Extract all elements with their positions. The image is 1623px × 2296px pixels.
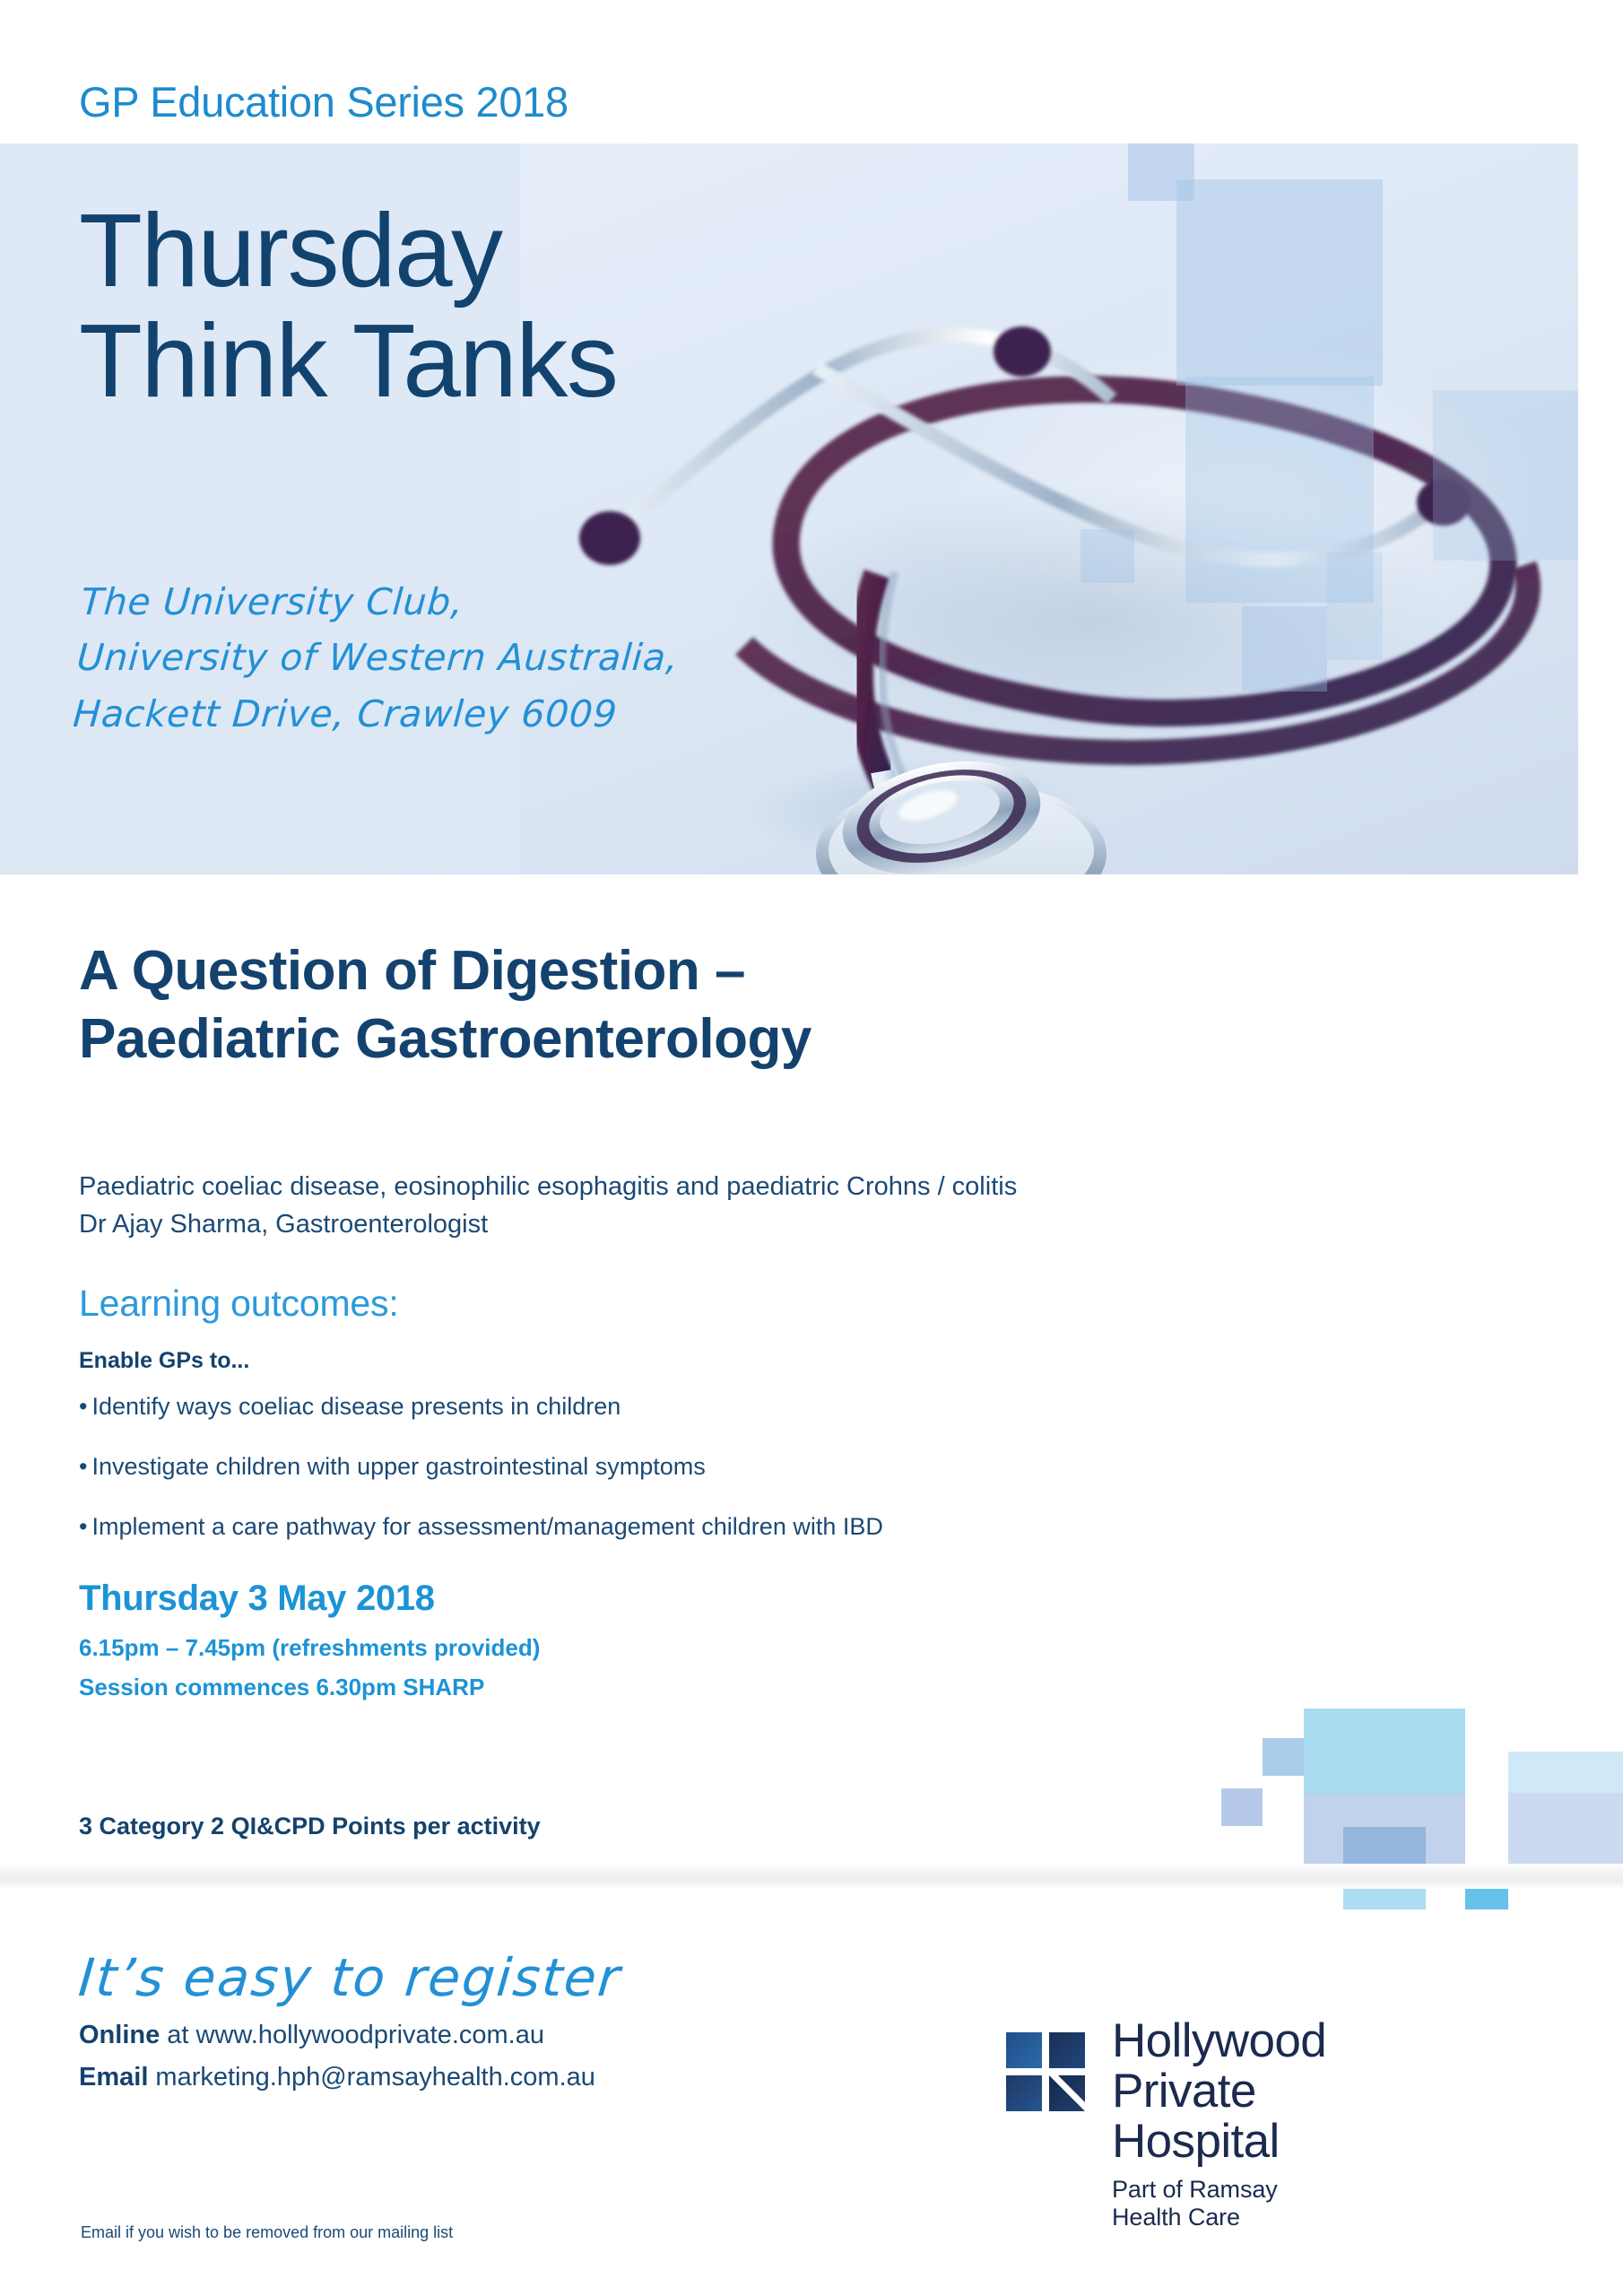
event-time: 6.15pm – 7.45pm (refreshments provided) xyxy=(79,1634,540,1662)
register-email-value[interactable]: marketing.hph@ramsayhealth.com.au xyxy=(148,2063,595,2092)
list-item-label: Identify ways coeliac disease presents i… xyxy=(91,1393,621,1420)
page-title-line1: A Question of Digestion – xyxy=(79,937,811,1005)
session-topics: Paediatric coeliac disease, eosinophilic… xyxy=(79,1168,1017,1205)
session-speaker: Dr Ajay Sharma, Gastroenterologist xyxy=(79,1205,1017,1243)
logo-wordmark: Hollywood Private Hospital Part of Ramsa… xyxy=(1112,2016,1326,2231)
list-item: •Identify ways coeliac disease presents … xyxy=(79,1395,883,1419)
register-online-value[interactable]: at www.hollywoodprivate.com.au xyxy=(160,2021,544,2049)
bullet-icon: • xyxy=(79,1453,87,1480)
list-item-label: Implement a care pathway for assessment/… xyxy=(91,1513,882,1540)
event-commence-note: Session commences 6.30pm SHARP xyxy=(79,1674,540,1701)
bullet-icon: • xyxy=(79,1393,87,1420)
event-datetime-block: Thursday 3 May 2018 6.15pm – 7.45pm (ref… xyxy=(79,1578,540,1713)
stethoscope-illustration xyxy=(520,143,1578,874)
event-date: Thursday 3 May 2018 xyxy=(79,1578,540,1619)
stethoscope-svg xyxy=(520,143,1578,874)
hero-banner: Thursday Think Tanks The University Club… xyxy=(0,143,1578,874)
page-title-line2: Paediatric Gastroenterology xyxy=(79,1005,811,1074)
mailing-list-footnote: Email if you wish to be removed from our… xyxy=(81,2223,453,2242)
hero-heading-line1: Thursday xyxy=(79,196,617,306)
register-email-label: Email xyxy=(79,2063,148,2092)
session-subject: Paediatric coeliac disease, eosinophilic… xyxy=(79,1168,1017,1243)
register-online-label: Online xyxy=(79,2021,160,2049)
page-header: GP Education Series 2018 xyxy=(0,0,1623,143)
register-heading: It’s easy to register xyxy=(76,1947,624,2008)
logo-squares-icon xyxy=(1006,2032,1085,2111)
logo-line-1: Hollywood xyxy=(1112,2016,1326,2066)
list-item: •Investigate children with upper gastroi… xyxy=(79,1455,883,1479)
stethoscope-photo xyxy=(520,143,1578,874)
venue-line-2: University of Western Australia, xyxy=(75,630,681,685)
logo-line-2: Private Hospital xyxy=(1112,2066,1326,2167)
logo-mark-svg xyxy=(1006,2032,1085,2111)
learning-outcomes-list: •Identify ways coeliac disease presents … xyxy=(79,1395,883,1575)
venue-line-1: The University Club, xyxy=(79,574,684,630)
register-email-line: Email marketing.hph@ramsayhealth.com.au xyxy=(79,2063,621,2092)
page-title: A Question of Digestion – Paediatric Gas… xyxy=(79,937,811,1073)
venue-line-3: Hackett Drive, Crawley 6009 xyxy=(71,686,676,742)
registration-block: It’s easy to register Online at www.holl… xyxy=(79,1947,621,2092)
list-item: •Implement a care pathway for assessment… xyxy=(79,1515,883,1539)
logo-tagline: Part of Ramsay Health Care xyxy=(1112,2176,1326,2231)
learning-outcomes-lead: Enable GPs to... xyxy=(79,1348,249,1374)
bullet-icon: • xyxy=(79,1513,87,1540)
hero-heading-line2: Think Tanks xyxy=(79,306,617,416)
cpd-points: 3 Category 2 QI&CPD Points per activity xyxy=(79,1813,541,1840)
learning-outcomes-title: Learning outcomes: xyxy=(79,1283,399,1325)
register-online-line: Online at www.hollywoodprivate.com.au xyxy=(79,2021,621,2050)
list-item-label: Investigate children with upper gastroin… xyxy=(91,1453,705,1480)
hero-heading: Thursday Think Tanks xyxy=(79,196,617,416)
section-divider xyxy=(0,1864,1623,1889)
bottom-decorative-squares xyxy=(1211,1664,1623,1942)
hero-venue-address: The University Club, University of Weste… xyxy=(71,574,683,742)
series-title: GP Education Series 2018 xyxy=(79,77,568,126)
